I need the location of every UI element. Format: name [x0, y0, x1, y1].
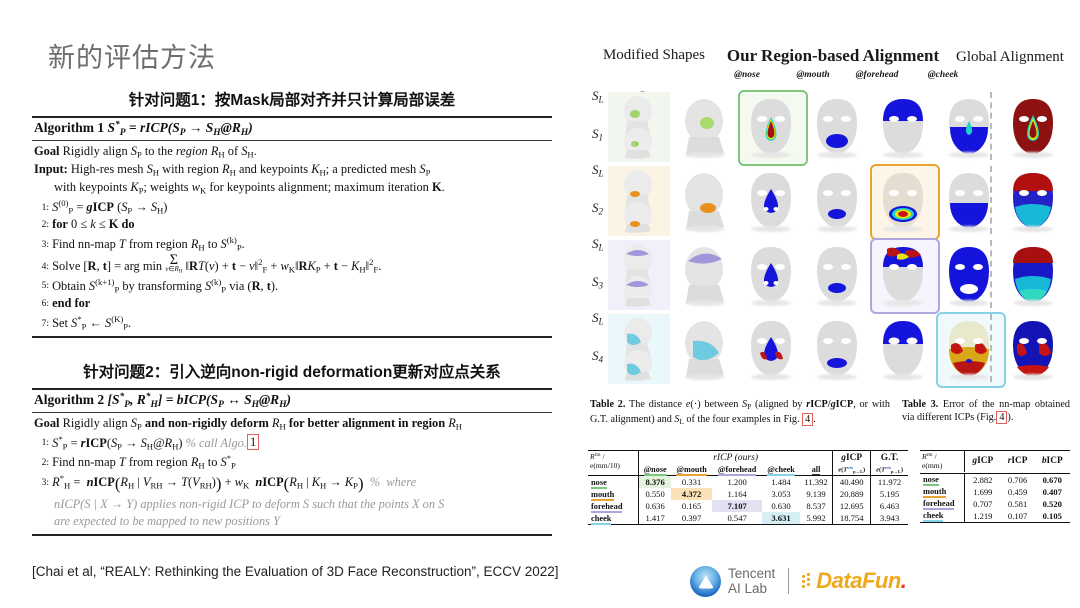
mask-cheek-error-icon — [945, 319, 993, 379]
tile-r4-global — [1002, 314, 1064, 384]
table-2-corner-units: e(mm/10) — [590, 461, 620, 470]
table-3-corner-units: e(mm) — [922, 461, 942, 470]
figure-region-alignment: Modified Shapes Our Region-based Alignme… — [590, 46, 1068, 386]
cell: 0.520 — [1035, 498, 1070, 510]
tile-r2-sp — [674, 166, 736, 236]
cell: 1.699 — [965, 486, 1001, 498]
cell: 1.417 — [639, 512, 672, 525]
algorithm-1-input-line1: Input: High-res mesh SH with region RH a… — [34, 161, 550, 179]
tencent-line-2: AI Lab — [728, 581, 775, 596]
cell: 5.195 — [871, 488, 908, 500]
cell: 1.164 — [712, 488, 762, 500]
mask-forehead-icon — [879, 319, 927, 379]
algorithm-ref-link-1[interactable]: 1 — [247, 434, 259, 450]
cell: 0.165 — [671, 500, 712, 512]
figure-grid: SL S1 SP — [590, 90, 1068, 386]
table-2-row-label-forehead: forehead — [588, 500, 639, 512]
cell: 8.537 — [800, 500, 833, 512]
figure-subheader-nose: @nose — [716, 70, 778, 80]
table-3-figure-ref[interactable]: 4 — [996, 411, 1007, 424]
tile-r3-nose — [740, 240, 802, 310]
tile-r3-global — [1002, 240, 1064, 310]
mask-global-error-icon — [1009, 97, 1057, 157]
table-3-row-label-nose: nose — [920, 473, 965, 486]
cell: 0.105 — [1035, 510, 1070, 523]
table-3: Rrm / e(mm) gICP rICP bICP nose 2.882 0.… — [920, 450, 1070, 523]
cell: 3.631 — [762, 512, 800, 525]
tile-r3-modified — [608, 240, 670, 310]
table-3-row-label-forehead: forehead — [920, 498, 965, 510]
figure-col-global-alignment: Global Alignment — [952, 49, 1068, 65]
table-2-corner-cell: Rrm / e(mm/10) — [588, 451, 639, 476]
figure-column-separator — [990, 166, 992, 234]
table-2-header-row-1: Rrm / e(mm/10) rICP (ours) gICP G.T. — [588, 451, 908, 465]
head-profile-icon — [613, 316, 665, 382]
algorithm-1-block: Algorithm 1 S*P = rICP(SP → SH@RH) Goal … — [32, 116, 552, 338]
goal-label-1: Goal — [34, 144, 59, 158]
algorithm-1-step-1: 1: S(0)P = gICP (SP → SH) — [34, 197, 550, 217]
tile-r4-sp — [674, 314, 736, 384]
row3-label-sl: SL — [592, 236, 604, 253]
cell: 1.484 — [762, 476, 800, 489]
algorithm-2-comment-3a: nICP(S | X → Y) applies non-rigid ICP to… — [34, 496, 550, 514]
mask-cheek-icon — [945, 245, 993, 305]
table-row: forehead 0.636 0.165 7.107 0.630 8.537 1… — [588, 500, 908, 512]
algorithm-1-signature: S*P = rICP(SP → SH@RH) — [108, 120, 253, 135]
row4-label-sl: SL — [592, 310, 604, 327]
table-2-row-label-nose: nose — [588, 476, 639, 489]
algorithm-2-signature: [S*P, R*H] = bICP(SP ↔ SH@RH) — [108, 392, 292, 407]
figure-row-4: SL S4 — [590, 312, 1068, 386]
table-3-grid: Rrm / e(mm) gICP rICP bICP nose 2.882 0.… — [920, 450, 1070, 523]
algorithm-1-step-4: 4: Solve [R, t] = arg min Σv∈RH ‖RT(v) +… — [34, 254, 550, 276]
cell: 1.219 — [965, 510, 1001, 523]
algorithm-1-body: Goal Rigidly align SP to the region RH o… — [32, 141, 552, 336]
tile-r1-nose — [740, 92, 802, 162]
section-heading-2: 针对问题2：引入逆向non-rigid deformation更新对应点关系 — [32, 360, 552, 382]
cell: 18.754 — [833, 512, 871, 525]
figure-row-3: SL S3 — [590, 238, 1068, 312]
head-profile-icon — [613, 242, 665, 308]
row1-label-sl: SL — [592, 88, 604, 105]
tile-r2-modified — [608, 166, 670, 236]
algorithm-2-step-3: 3: R*H = nICP(RH | VRH → T(VRH)) + wK nI… — [34, 472, 550, 496]
table-2-header-gt: G.T. — [871, 451, 908, 465]
datafun-text-data: DataFun — [816, 568, 901, 594]
algorithm-1-goal: Goal Rigidly align SP to the region RH o… — [34, 143, 550, 161]
mask-cheek-icon — [945, 97, 993, 157]
table-2-col-mouth: @mouth — [671, 464, 712, 476]
algorithm-1-step-5: 5: Obtain S(k+1)P by transforming S(k)P … — [34, 276, 550, 296]
algorithm-1-step-7: 7: Set S*P ← S(K)P. — [34, 313, 550, 333]
table-2-caption-label: Table 2. — [590, 399, 625, 410]
cell: 12.695 — [833, 500, 871, 512]
mask-mouth-icon — [813, 319, 861, 379]
cell: 5.992 — [800, 512, 833, 525]
cell: 1.200 — [712, 476, 762, 489]
tile-r4-mouth — [806, 314, 868, 384]
cell: 6.463 — [871, 500, 908, 512]
tile-r4-modified — [608, 314, 670, 384]
cell: 11.972 — [871, 476, 908, 489]
table-2-row-label-mouth: mouth — [588, 488, 639, 500]
table-row: forehead 0.707 0.581 0.520 — [920, 498, 1070, 510]
head-3d-icon — [677, 169, 733, 233]
cell: 0.630 — [762, 500, 800, 512]
cell: 0.706 — [1001, 473, 1035, 486]
mask-nose-error-icon — [747, 319, 795, 379]
algorithm-2-label: Algorithm 2 — [34, 392, 104, 407]
cell: 0.459 — [1001, 486, 1035, 498]
table-2-col-nose: @nose — [639, 464, 672, 476]
table-2-header-gicp: gICP — [833, 451, 871, 465]
table-row: mouth 0.550 4.372 1.164 3.053 9.139 20.8… — [588, 488, 908, 500]
algorithm-2-step-2: 2: Find nn-map T from region RH to S*P — [34, 452, 550, 472]
table-2-grid: Rrm / e(mm/10) rICP (ours) gICP G.T. @no… — [588, 450, 908, 525]
table-3-header-row: Rrm / e(mm) gICP rICP bICP — [920, 451, 1070, 472]
table-2-subheader-gicp: e(Tvtxp→L) — [833, 464, 871, 476]
head-profile-icon — [613, 168, 665, 234]
cell: 0.581 — [1001, 498, 1035, 510]
cell: 0.331 — [671, 476, 712, 489]
row4-label-s4: S4 — [592, 348, 603, 365]
figure-col-our-alignment: Our Region-based Alignment — [708, 47, 958, 65]
mask-nose-icon — [747, 171, 795, 231]
table-row: cheek 1.417 0.397 0.547 3.631 5.992 18.7… — [588, 512, 908, 525]
head-3d-icon — [677, 317, 733, 381]
mask-mouth-icon — [813, 171, 861, 231]
table-3-caption: Table 3. Error of the nn-map obtained vi… — [902, 398, 1070, 425]
mask-mouth-icon — [813, 97, 861, 157]
table-3-col-ricp: rICP — [1001, 451, 1035, 472]
cell: 0.636 — [639, 500, 672, 512]
mask-forehead-error-icon — [879, 245, 927, 305]
cell: 0.550 — [639, 488, 672, 500]
datafun-dots-icon — [802, 573, 815, 589]
head-3d-icon — [677, 95, 733, 159]
tile-r1-forehead — [872, 92, 934, 162]
tile-r4-nose — [740, 314, 802, 384]
left-content-column: 针对问题1：按Mask局部对齐并只计算局部误差 Algorithm 1 S*P … — [32, 88, 552, 536]
cell: 2.882 — [965, 473, 1001, 486]
figure-column-separator — [990, 92, 992, 160]
figure-subheader-mouth: @mouth — [782, 70, 844, 80]
algorithm-2-step-1: 1: S*P = rICP(SP → SH@RH) % call Algo.1 — [34, 433, 550, 453]
tencent-logo-icon — [690, 566, 721, 597]
table-2-group-header-ricp: rICP (ours) — [639, 451, 833, 465]
algorithm-2-title: Algorithm 2 [S*P, R*H] = bICP(SP ↔ SH@RH… — [32, 390, 552, 412]
algorithm-2-comment-3b: are expected to be mapped to new positio… — [34, 513, 550, 531]
table-3-corner-cell: Rrm / e(mm) — [920, 451, 965, 472]
page-title: 新的评估方法 — [48, 36, 216, 75]
tile-r4-forehead — [872, 314, 934, 384]
cell: 0.670 — [1035, 473, 1070, 486]
tile-r1-global — [1002, 92, 1064, 162]
tile-r3-mouth — [806, 240, 868, 310]
tile-r3-forehead — [872, 240, 934, 310]
tile-r2-forehead — [872, 166, 934, 236]
algorithm-1-step-6: 6: end for — [34, 295, 550, 313]
algorithm-1-input-line2: with keypoints KP; weights wK for keypoi… — [34, 179, 550, 197]
head-profile-icon — [613, 94, 665, 160]
table-2-caption-tail: . — [813, 414, 816, 425]
cell: 0.707 — [965, 498, 1001, 510]
cell: 40.490 — [833, 476, 871, 489]
table-row: nose 2.882 0.706 0.670 — [920, 473, 1070, 486]
logo-divider — [788, 568, 789, 594]
table-3-caption-tail: ). — [1007, 412, 1013, 423]
algorithm-2-body: Goal Rigidly align SP and non-rigidly de… — [32, 413, 552, 534]
mask-mouth-icon — [813, 245, 861, 305]
mask-global-error-icon — [1009, 319, 1057, 379]
cell: 4.372 — [671, 488, 712, 500]
table-2-subheader-gt: e(Tvtxp→L) — [871, 464, 908, 476]
cell: 8.376 — [639, 476, 672, 489]
row2-label-sl: SL — [592, 162, 604, 179]
cell: 0.407 — [1035, 486, 1070, 498]
cell: 7.107 — [712, 500, 762, 512]
figure-row-2: SL S2 — [590, 164, 1068, 238]
goal-label-2: Goal — [34, 416, 59, 430]
tile-r2-nose — [740, 166, 802, 236]
figure-header: Modified Shapes Our Region-based Alignme… — [590, 46, 1068, 90]
datafun-logo: DataFun. — [802, 568, 906, 594]
table-3-caption-label: Table 3. — [902, 399, 938, 410]
section-heading-1: 针对问题1：按Mask局部对齐并只计算局部误差 — [32, 88, 552, 110]
mask-nose-error-icon — [747, 97, 795, 157]
tile-r2-mouth — [806, 166, 868, 236]
table-row: nose 8.376 0.331 1.200 1.484 11.392 40.4… — [588, 476, 908, 489]
table-2-col-forehead: @forehead — [712, 464, 762, 476]
tile-r1-sp — [674, 92, 736, 162]
table-2-col-cheek: @cheek — [762, 464, 800, 476]
table-3-row-label-mouth: mouth — [920, 486, 965, 498]
cell: 20.889 — [833, 488, 871, 500]
figure-col-modified-shapes: Modified Shapes — [598, 47, 710, 63]
mask-nose-icon — [747, 245, 795, 305]
table-2-caption-text: The distance e(·) between SP (aligned by… — [590, 399, 890, 425]
table-2-col-all: all — [800, 464, 833, 476]
row1-label-s1: S1 — [592, 126, 603, 143]
tencent-line-1: Tencent — [728, 566, 775, 581]
algorithm-2-block: Algorithm 2 [S*P, R*H] = bICP(SP ↔ SH@RH… — [32, 388, 552, 536]
head-3d-icon — [677, 243, 733, 307]
figure-row-1: SL S1 SP — [590, 90, 1068, 164]
table-3-row-label-cheek: cheek — [920, 510, 965, 523]
mask-mouth-error-icon — [879, 171, 927, 231]
citation-text: [Chai et al, “REALY: Rethinking the Eval… — [32, 564, 559, 579]
tile-r1-mouth — [806, 92, 868, 162]
cell: 3.053 — [762, 488, 800, 500]
algorithm-2-goal: Goal Rigidly align SP and non-rigidly de… — [34, 415, 550, 433]
figure-subheader-cheek: @cheek — [912, 70, 974, 80]
datafun-text-dot: . — [901, 568, 907, 594]
tile-r3-sp — [674, 240, 736, 310]
tencent-ai-lab-logo: Tencent AI Lab — [690, 566, 775, 597]
input-label-1: Input: — [34, 162, 68, 176]
cell: 0.107 — [1001, 510, 1035, 523]
row2-label-s2: S2 — [592, 200, 603, 217]
row3-label-s3: S3 — [592, 274, 603, 291]
table-2-caption: Table 2. The distance e(·) between SP (a… — [590, 398, 890, 427]
mask-global-error-icon — [1009, 171, 1057, 231]
algorithm-1-step-3: 3: Find nn-map T from region RH to S(k)P… — [34, 234, 550, 254]
cell: 3.943 — [871, 512, 908, 525]
table-row: cheek 1.219 0.107 0.105 — [920, 510, 1070, 523]
tile-r1-modified — [608, 92, 670, 162]
cell: 9.139 — [800, 488, 833, 500]
algorithm-1-title: Algorithm 1 S*P = rICP(SP → SH@RH) — [32, 118, 552, 140]
mask-cheek-icon — [945, 171, 993, 231]
table-2: Rrm / e(mm/10) rICP (ours) gICP G.T. @no… — [588, 450, 908, 525]
slide-root: 新的评估方法 针对问题1：按Mask局部对齐并只计算局部误差 Algorithm… — [0, 0, 1080, 608]
algorithm-1-step-2: 2: for 0 ≤ k ≤ K do — [34, 216, 550, 234]
table-3-col-bicp: bICP — [1035, 451, 1070, 472]
mask-forehead-icon — [879, 97, 927, 157]
cell: 11.392 — [800, 476, 833, 489]
footer-logos: Tencent AI Lab DataFun. — [690, 561, 906, 601]
table-2-figure-ref[interactable]: 4 — [802, 413, 813, 426]
algorithm-2-comment-1: % call Algo. — [186, 435, 247, 449]
table-3-col-gicp: gICP — [965, 451, 1001, 472]
cell: 0.547 — [712, 512, 762, 525]
table-row: mouth 1.699 0.459 0.407 — [920, 486, 1070, 498]
mask-global-error-icon — [1009, 245, 1057, 305]
tile-r2-global — [1002, 166, 1064, 236]
algorithm-1-label: Algorithm 1 — [34, 120, 104, 135]
cell: 0.397 — [671, 512, 712, 525]
tencent-logo-text: Tencent AI Lab — [728, 566, 775, 596]
figure-column-separator — [990, 314, 992, 382]
figure-subheader-forehead: @forehead — [846, 70, 908, 80]
table-2-row-label-cheek: cheek — [588, 512, 639, 525]
figure-column-separator — [990, 240, 992, 308]
